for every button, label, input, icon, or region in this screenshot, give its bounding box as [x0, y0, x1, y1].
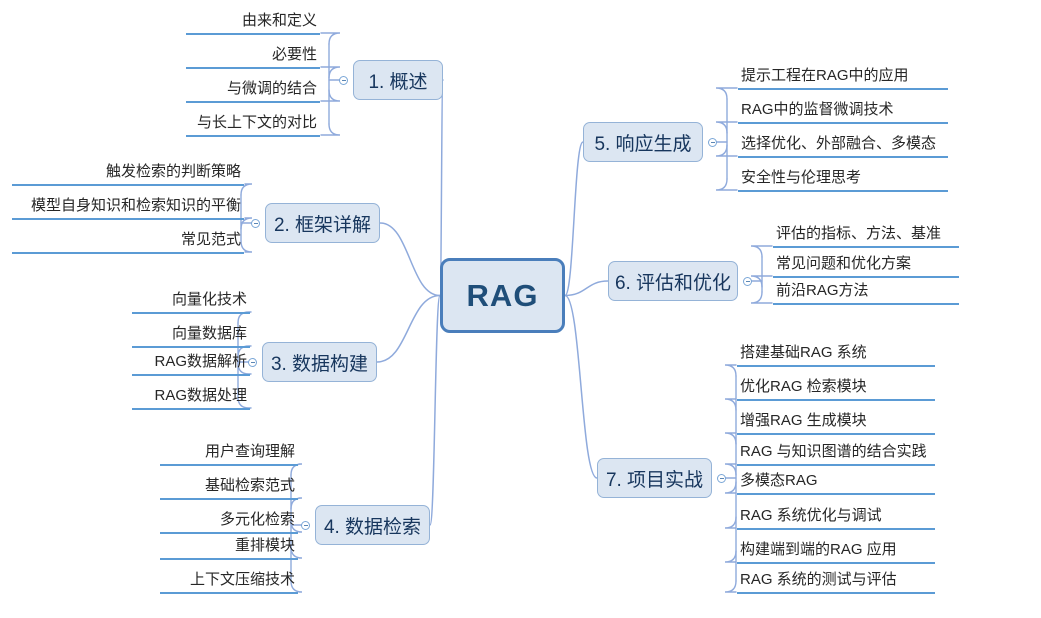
leaf-node[interactable]: 优化RAG 检索模块 [737, 377, 935, 401]
leaf-label: 增强RAG 生成模块 [740, 412, 867, 429]
leaf-label: RAG 与知识图谱的结合实践 [740, 443, 927, 460]
leaf-node[interactable]: 选择优化、外部融合、多模态 [738, 134, 948, 158]
leaf-node[interactable]: RAG 系统优化与调试 [737, 506, 935, 530]
leaf-node[interactable]: 常见范式 [12, 230, 244, 254]
collapse-toggle-4[interactable] [301, 521, 310, 530]
leaf-label: 常见范式 [181, 231, 241, 248]
leaf-label: 由来和定义 [242, 12, 317, 29]
collapse-toggle-2[interactable] [251, 219, 260, 228]
collapse-toggle-3[interactable] [248, 358, 257, 367]
leaf-node[interactable]: 多元化检索 [160, 510, 298, 534]
leaf-label: 搭建基础RAG 系统 [740, 344, 867, 361]
leaf-label: 优化RAG 检索模块 [740, 378, 867, 395]
collapse-toggle-7[interactable] [717, 474, 726, 483]
leaf-label: RAG 系统优化与调试 [740, 507, 882, 524]
leaf-node[interactable]: 向量化技术 [132, 290, 250, 314]
leaf-node[interactable]: 向量数据库 [132, 324, 250, 348]
leaf-node[interactable]: 搭建基础RAG 系统 [737, 343, 935, 367]
leaf-label: RAG数据处理 [154, 387, 247, 404]
leaf-label: 常见问题和优化方案 [776, 255, 911, 272]
leaf-label: 与微调的结合 [227, 80, 317, 97]
leaf-node[interactable]: 提示工程在RAG中的应用 [738, 66, 948, 90]
leaf-label: 向量数据库 [172, 325, 247, 342]
leaf-label: 前沿RAG方法 [776, 282, 869, 299]
root-label: RAG [467, 278, 539, 314]
branch-label: 4. 数据检索 [324, 512, 421, 539]
branch-node-7[interactable]: 7. 项目实战 [597, 458, 712, 498]
leaf-label: 评估的指标、方法、基准 [776, 225, 941, 242]
branch-node-1[interactable]: 1. 概述 [353, 60, 443, 100]
leaf-node[interactable]: RAG 系统的测试与评估 [737, 570, 935, 594]
branch-label: 6. 评估和优化 [615, 268, 731, 295]
leaf-label: 向量化技术 [172, 291, 247, 308]
leaf-node[interactable]: 模型自身知识和检索知识的平衡 [12, 196, 244, 220]
leaf-label: 多元化检索 [220, 511, 295, 528]
leaf-label: 用户查询理解 [205, 443, 295, 460]
leaf-node[interactable]: 上下文压缩技术 [160, 570, 298, 594]
leaf-node[interactable]: 触发检索的判断策略 [12, 162, 244, 186]
branch-label: 3. 数据构建 [271, 349, 368, 376]
leaf-label: 安全性与伦理思考 [741, 169, 861, 186]
leaf-label: RAG 系统的测试与评估 [740, 571, 897, 588]
leaf-node[interactable]: 与微调的结合 [186, 79, 320, 103]
branch-label: 5. 响应生成 [594, 129, 691, 156]
leaf-node[interactable]: 安全性与伦理思考 [738, 168, 948, 192]
leaf-label: RAG数据解析 [154, 353, 247, 370]
leaf-node[interactable]: 重排模块 [160, 536, 298, 560]
leaf-label: 模型自身知识和检索知识的平衡 [31, 197, 241, 214]
leaf-node[interactable]: 常见问题和优化方案 [773, 254, 959, 278]
leaf-label: 重排模块 [235, 537, 295, 554]
leaf-label: 与长上下文的对比 [197, 114, 317, 131]
branch-label: 1. 概述 [368, 67, 427, 94]
leaf-node[interactable]: 基础检索范式 [160, 476, 298, 500]
root-node[interactable]: RAG [440, 258, 565, 333]
leaf-label: 多模态RAG [740, 472, 818, 489]
branch-node-3[interactable]: 3. 数据构建 [262, 342, 377, 382]
leaf-label: RAG中的监督微调技术 [741, 101, 894, 118]
leaf-node[interactable]: RAG中的监督微调技术 [738, 100, 948, 124]
leaf-label: 上下文压缩技术 [190, 571, 295, 588]
branch-node-6[interactable]: 6. 评估和优化 [608, 261, 738, 301]
leaf-node[interactable]: RAG数据解析 [132, 352, 250, 376]
leaf-node[interactable]: 构建端到端的RAG 应用 [737, 540, 935, 564]
collapse-toggle-6[interactable] [743, 277, 752, 286]
mindmap-canvas: RAG 1. 概述2. 框架详解3. 数据构建4. 数据检索5. 响应生成6. … [0, 0, 1041, 618]
leaf-label: 触发检索的判断策略 [106, 163, 241, 180]
leaf-label: 必要性 [272, 46, 317, 63]
leaf-node[interactable]: 前沿RAG方法 [773, 281, 959, 305]
leaf-node[interactable]: 与长上下文的对比 [186, 113, 320, 137]
collapse-toggle-1[interactable] [339, 76, 348, 85]
leaf-node[interactable]: 必要性 [186, 45, 320, 69]
branch-label: 2. 框架详解 [274, 210, 371, 237]
leaf-node[interactable]: 增强RAG 生成模块 [737, 411, 935, 435]
leaf-label: 提示工程在RAG中的应用 [741, 67, 909, 84]
leaf-label: 构建端到端的RAG 应用 [740, 541, 897, 558]
branch-node-5[interactable]: 5. 响应生成 [583, 122, 703, 162]
leaf-node[interactable]: 由来和定义 [186, 11, 320, 35]
leaf-label: 选择优化、外部融合、多模态 [741, 135, 936, 152]
branch-node-4[interactable]: 4. 数据检索 [315, 505, 430, 545]
branch-label: 7. 项目实战 [606, 465, 703, 492]
leaf-node[interactable]: 评估的指标、方法、基准 [773, 224, 959, 248]
leaf-label: 基础检索范式 [205, 477, 295, 494]
collapse-toggle-5[interactable] [708, 138, 717, 147]
leaf-node[interactable]: 用户查询理解 [160, 442, 298, 466]
leaf-node[interactable]: RAG 与知识图谱的结合实践 [737, 442, 935, 466]
leaf-node[interactable]: RAG数据处理 [132, 386, 250, 410]
leaf-node[interactable]: 多模态RAG [737, 471, 935, 495]
branch-node-2[interactable]: 2. 框架详解 [265, 203, 380, 243]
